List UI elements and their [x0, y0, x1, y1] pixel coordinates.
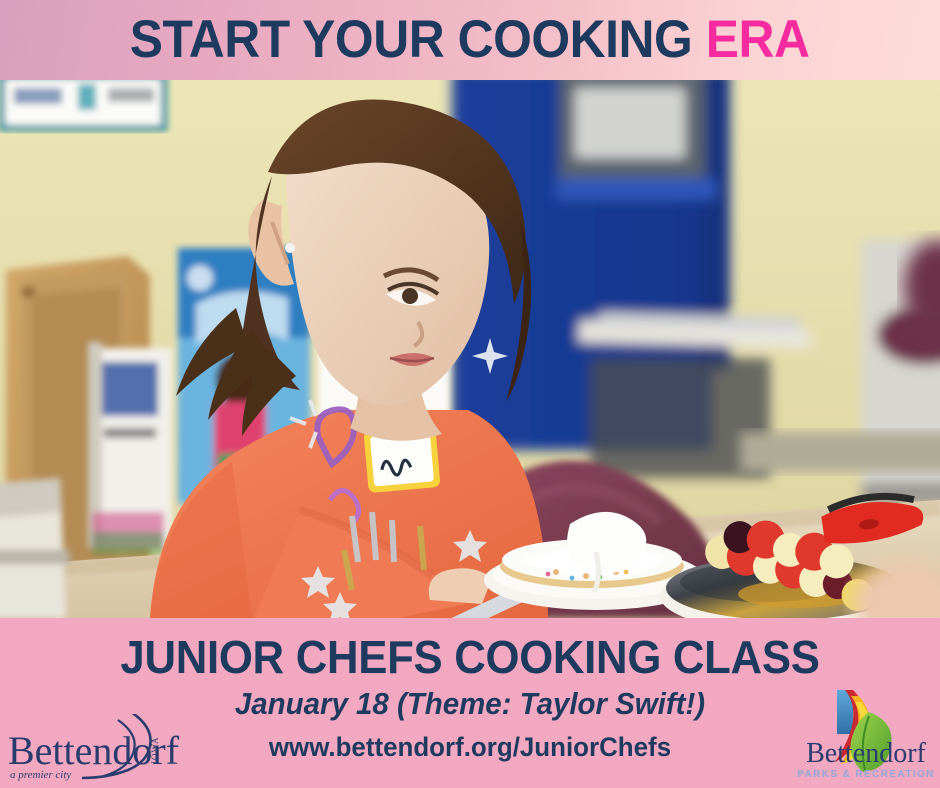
city-logo-state: IOWA	[150, 737, 160, 765]
city-logo: Bettendorf IOWA a premier city	[6, 714, 192, 784]
parks-logo-subtitle: PARKS & RECREATION	[797, 769, 935, 780]
parks-logo-wordmark: Bettendorf	[806, 738, 926, 769]
headline-accent-text: ERA	[706, 10, 810, 69]
headline-main-text: START YOUR COOKING	[130, 10, 706, 69]
page-title: START YOUR COOKING ERA	[130, 12, 810, 68]
city-logo-tagline: a premier city	[10, 769, 71, 781]
header-banner: START YOUR COOKING ERA	[0, 0, 940, 80]
parks-recreation-logo: Bettendorf PARKS & RECREATION	[795, 682, 937, 786]
class-title: JUNIOR CHEFS COOKING CLASS	[24, 632, 917, 682]
hero-photo	[0, 80, 940, 618]
